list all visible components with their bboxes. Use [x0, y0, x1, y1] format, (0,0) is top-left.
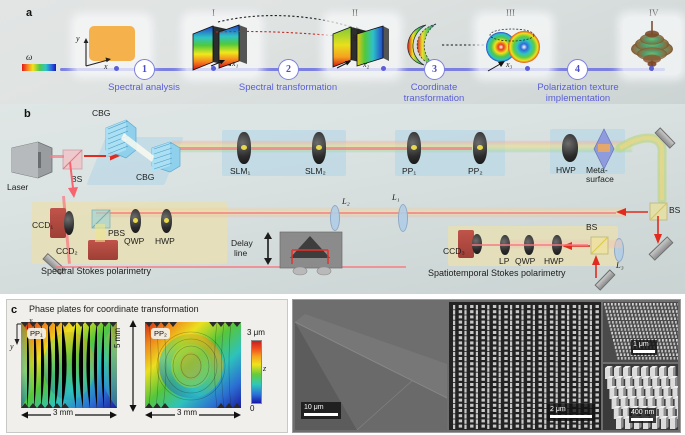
- cbg-pair: [96, 116, 184, 176]
- delay-line-double-arrow: [262, 232, 274, 266]
- omega-symbol: ω: [26, 52, 32, 62]
- spectral-slab-2: [331, 24, 393, 72]
- beam-pbs-to-ccd2: [95, 224, 105, 242]
- caption-spectral-polarimetry: Spectral Stokes polarimetry: [41, 266, 151, 276]
- label-ccd1: CCD₁: [32, 220, 53, 230]
- label-cbg-bottom: CBG: [136, 172, 154, 182]
- beam-red-mid: [96, 212, 616, 214]
- node-axis-label-2: x₂: [363, 60, 369, 69]
- label-qwp-left: QWP: [124, 236, 144, 246]
- arrow-down-from-bs-upper: [650, 216, 666, 248]
- omega-colorbar: [22, 64, 56, 71]
- label-ccd3: CCD₃: [443, 246, 465, 256]
- label-laser: Laser: [7, 182, 28, 192]
- ccd-2-body: [88, 240, 118, 260]
- stage-circle-1: 1: [134, 59, 155, 80]
- node-dot-4: [649, 66, 654, 71]
- scalebar-400nm: 400 nm: [629, 408, 656, 423]
- hwp-top: [562, 134, 578, 162]
- panel-b: b Laser BS: [0, 104, 685, 294]
- slm-2-core: [316, 145, 322, 150]
- arrow-left-from-bs-lower: [560, 238, 592, 254]
- arrow-left-from-bs-upper: [612, 204, 652, 220]
- scalebar-1um-text: 1 μm: [633, 341, 655, 349]
- node-dot-1: [211, 66, 216, 71]
- panel-c: c Phase plates for coordinate transforma…: [6, 299, 288, 433]
- panel-c-colorbar: [251, 340, 262, 404]
- label-slm1: SLM₁: [230, 166, 250, 176]
- panel-a: a ω y x 1 Spectral analysis I: [0, 0, 685, 104]
- pp1-width-label: 3 mm: [51, 408, 75, 417]
- delay-line-stage: [278, 230, 348, 276]
- node-axis-label-1: x₁: [232, 59, 238, 68]
- stage-circle-2: 2: [278, 59, 299, 80]
- label-pbs: PBS: [108, 228, 125, 238]
- label-bs-right-upper: BS: [669, 205, 680, 215]
- node-dot-2: [381, 66, 386, 71]
- panel-b-label: b: [24, 108, 31, 120]
- panel-c-axis-y: y: [10, 342, 14, 351]
- qwp-left-core: [133, 218, 138, 223]
- beam-laser-to-bs: [50, 155, 64, 158]
- label-pp1: PP₁: [402, 166, 416, 176]
- phase-plate-1-core: [411, 145, 417, 150]
- label-pp2: PP₂: [468, 166, 483, 176]
- label-ccd2: CCD₂: [56, 246, 78, 256]
- panel-a-label: a: [26, 7, 32, 19]
- label-delay-line-1: Delay: [231, 238, 253, 248]
- label-slm2: SLM₂: [305, 166, 326, 176]
- axis-arrow-3: [486, 60, 506, 74]
- phase-plate-1-tag: PP₁: [27, 328, 46, 339]
- stage-caption-1: Spectral analysis: [104, 82, 184, 93]
- label-cbg-top: CBG: [92, 108, 110, 118]
- pp2-width-label: 3 mm: [175, 408, 199, 417]
- scalebar-10um: 10 μm: [301, 402, 341, 419]
- label-l1: L₁: [392, 192, 400, 202]
- scalebar-400nm-text: 400 nm: [631, 409, 654, 417]
- label-metasurface-2: surface: [586, 174, 614, 184]
- label-qwp-right: QWP: [515, 256, 535, 266]
- label-bs-right-lower: BS: [586, 222, 597, 232]
- height-dim-arrow: [127, 320, 139, 412]
- label-lp: LP: [499, 256, 509, 266]
- label-l2: L₂: [342, 196, 350, 206]
- beam-ccd3-rail: [472, 244, 588, 246]
- node-dot-3: [525, 66, 530, 71]
- phase-plate-2-core: [477, 145, 483, 150]
- ccd-1-lens: [64, 211, 74, 235]
- node-dot-0: [114, 66, 119, 71]
- label-hwp-right: HWP: [544, 256, 564, 266]
- slm-1-core: [241, 145, 247, 150]
- phase-plate-2-tag: PP₂: [151, 328, 170, 339]
- panel-d: d Birefringent metasurface 10 μm 2 μm: [292, 299, 681, 433]
- label-l3: L₃: [616, 260, 624, 270]
- hwp-left-core: [164, 218, 169, 223]
- figure-root: a ω y x 1 Spectral analysis I: [0, 0, 685, 435]
- stage-caption-3: Coordinate transformation: [398, 82, 470, 104]
- stage-circle-3: 3: [424, 59, 445, 80]
- scalebar-10um-text: 10 μm: [304, 404, 338, 412]
- axis-label-x: x: [104, 62, 108, 71]
- panel-c-title: Phase plates for coordinate transformati…: [29, 304, 199, 314]
- scalebar-2um-text: 2 μm: [550, 406, 592, 414]
- height-dim-label: 5 mm: [113, 328, 122, 348]
- stage-circle-4: 4: [567, 59, 588, 80]
- axis-label-y: y: [76, 34, 80, 43]
- stage-caption-2: Spectral transformation: [233, 82, 343, 93]
- scalebar-2um: 2 μm: [547, 404, 595, 421]
- laser-body: [8, 140, 56, 182]
- panel-c-colorbar-symbol: z: [263, 364, 266, 373]
- stage-caption-4: Polarization texture implementation: [516, 82, 640, 104]
- label-hwp-top: HWP: [556, 165, 576, 175]
- polarization-texture-icon: [628, 19, 676, 73]
- scalebar-1um: 1 μm: [631, 340, 657, 355]
- lens-l2: [330, 205, 340, 231]
- panel-c-label: c: [11, 304, 17, 316]
- lens-l1: [398, 204, 408, 232]
- panel-c-colorbar-min: 0: [250, 404, 254, 413]
- caption-spatiotemporal-polarimetry: Spatiotemporal Stokes polarimetry: [428, 268, 566, 278]
- panel-c-colorbar-max: 3 μm: [247, 328, 265, 337]
- node-axis-label-3: x₃: [506, 60, 512, 69]
- label-hwp-left: HWP: [155, 236, 175, 246]
- label-delay-line-2: line: [234, 248, 247, 258]
